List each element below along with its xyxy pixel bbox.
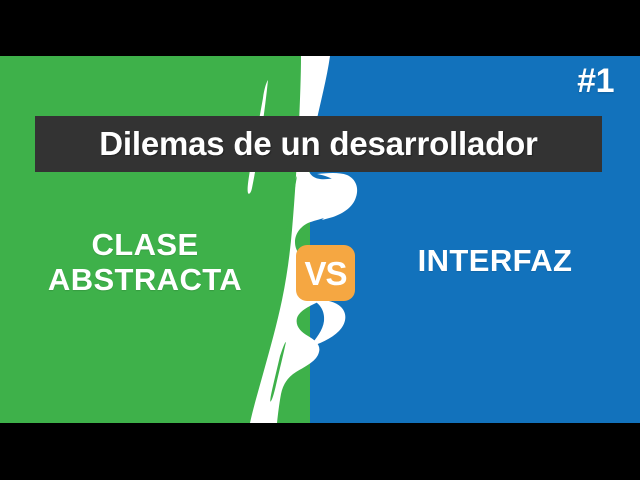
versus-badge-label: VS [304,257,346,290]
versus-badge: VS [296,245,355,301]
episode-number-badge: #1 [577,64,614,98]
thumbnail-stage: #1 Dilemas de un desarrollador CLASE ABS… [0,56,640,423]
letterbox-bar-bottom [0,423,640,480]
left-option-line-1: CLASE [0,228,290,263]
right-panel-interface [310,56,640,423]
title-banner: Dilemas de un desarrollador [35,116,602,172]
video-thumbnail: #1 Dilemas de un desarrollador CLASE ABS… [0,0,640,480]
page-title: Dilemas de un desarrollador [99,125,537,163]
right-option-label: INTERFAZ [360,244,630,279]
left-option-label: CLASE ABSTRACTA [0,228,290,297]
letterbox-bar-top [0,0,640,56]
left-option-line-2: ABSTRACTA [0,263,290,298]
